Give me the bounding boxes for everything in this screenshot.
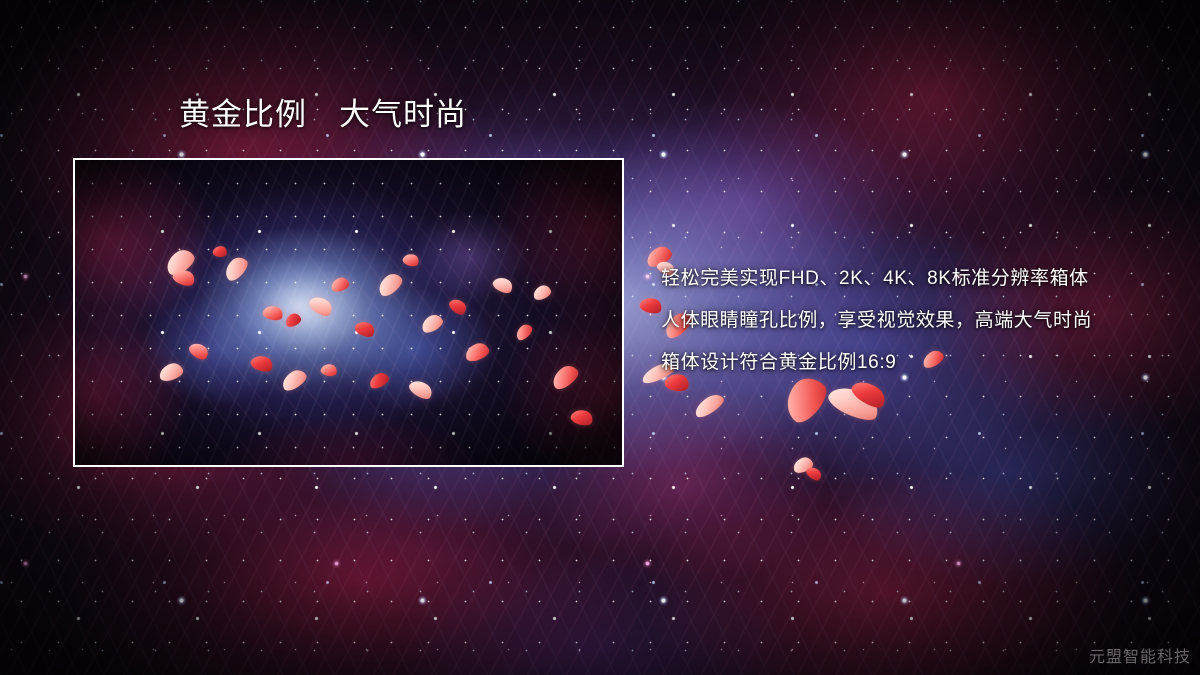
petal [691,391,726,420]
petal [825,380,883,426]
slide-canvas: 黄金比例 大气时尚 轻松完美实现FHD、2K、4K、8K标准分辨率箱体 人体眼睛… [0,0,1200,675]
feature-line: 箱体设计符合黄金比例16:9 [661,342,1092,384]
petal [804,464,823,483]
panel-image [73,158,624,467]
watermark-brand: 元盟智能科技 [1089,643,1191,667]
petal [638,295,664,316]
panel-vignette [73,158,624,467]
feature-description: 轻松完美实现FHD、2K、4K、8K标准分辨率箱体 人体眼睛瞳孔比例，享受视觉效… [661,258,1092,384]
golden-ratio-panel [73,158,624,467]
page-title: 黄金比例 大气时尚 [179,99,467,130]
feature-line: 人体眼睛瞳孔比例，享受视觉效果，高端大气时尚 [661,300,1092,342]
feature-line: 轻松完美实现FHD、2K、4K、8K标准分辨率箱体 [661,258,1092,300]
petal [791,455,814,474]
